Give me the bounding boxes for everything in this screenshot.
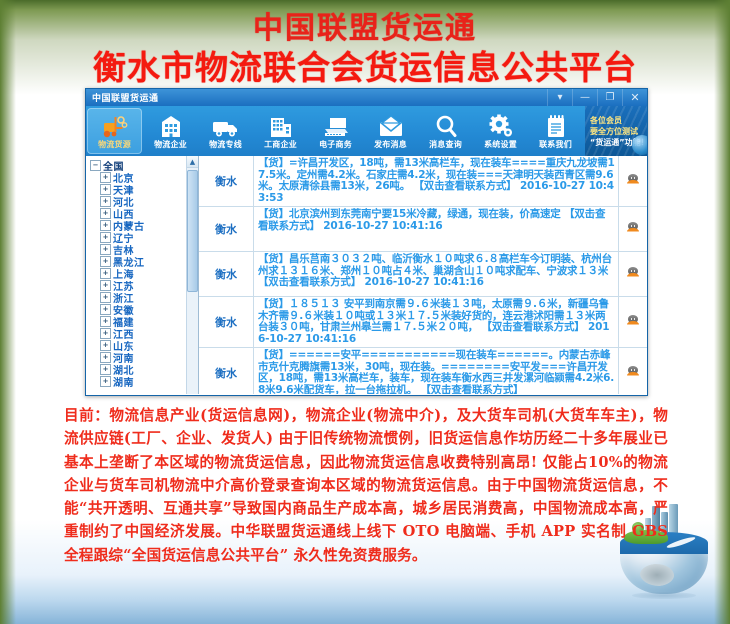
forklift-icon bbox=[101, 112, 129, 139]
scroll-up-icon[interactable]: ▲ bbox=[187, 156, 198, 168]
scroll-thumb[interactable] bbox=[187, 170, 198, 292]
notepad-icon bbox=[543, 112, 569, 139]
banner-body: 各位会员 要全方位测试 “货运通”功能！ bbox=[585, 106, 647, 156]
toolbar-label: 联系我们 bbox=[539, 140, 572, 150]
tree-node-province[interactable]: +天津 bbox=[89, 183, 198, 195]
list-rows: 衡水【货】=许昌开发区，18吨，需13米高栏车，现在装车====重庆九龙坡需17… bbox=[199, 156, 647, 394]
row-contact-cell[interactable] bbox=[619, 252, 647, 296]
close-icon[interactable]: ✕ bbox=[622, 89, 647, 106]
tree-toggle-icon[interactable]: + bbox=[100, 268, 111, 279]
envelope-icon bbox=[377, 112, 405, 139]
headings-block: 中国联盟货运通 衡水市物流联合会货运信息公共平台 bbox=[0, 12, 730, 88]
row-timestamp: 2016-10-27 10:41:16 bbox=[323, 220, 442, 232]
tree-toggle-icon[interactable]: − bbox=[90, 160, 101, 171]
toolbar-item-message-search[interactable]: 消息查询 bbox=[418, 106, 473, 156]
row-message-text: 【货】１８５１３ 安平到南京需９.６米装１３吨，太原需９.６米，新疆乌鲁木齐需９… bbox=[258, 298, 609, 333]
qq-penguin-icon[interactable] bbox=[627, 222, 639, 236]
table-row[interactable]: 衡水【货】=许昌开发区，18吨，需13米高栏车，现在装车====重庆九龙坡需17… bbox=[199, 156, 647, 207]
application-window: 中国联盟货运通 ▾ — ❐ ✕ bbox=[85, 88, 648, 396]
footer-paragraph: 目前：物流信息产业(货运信息网)，物流企业(物流中介)，及大货车司机(大货车车主… bbox=[64, 404, 668, 567]
row-city-cell: 衡水 bbox=[199, 252, 254, 296]
row-contact-cell[interactable] bbox=[619, 297, 647, 347]
tree-toggle-icon[interactable]: + bbox=[100, 244, 111, 255]
search-icon bbox=[433, 112, 459, 139]
qq-penguin-icon[interactable] bbox=[627, 267, 639, 281]
toolbar-label: 消息查询 bbox=[429, 140, 462, 150]
computer-icon bbox=[322, 112, 350, 139]
row-message-cell[interactable]: 【货】======安平===========现在装车======。内蒙古赤峰市克… bbox=[254, 348, 619, 394]
toolbar-label: 电子商务 bbox=[319, 140, 352, 150]
table-row[interactable]: 衡水【货】昌乐莒南３０３２吨、临沂衡水１０吨求６.８高栏车今订明装、杭州台州求１… bbox=[199, 252, 647, 297]
row-city-cell: 衡水 bbox=[199, 297, 254, 347]
row-message-cell[interactable]: 【货】１８５１３ 安平到南京需９.６米装１３吨，太原需９.６米，新疆乌鲁木齐需９… bbox=[254, 297, 619, 347]
tree-toggle-icon[interactable]: + bbox=[100, 304, 111, 315]
tree-node-province[interactable]: +福建 bbox=[89, 315, 198, 327]
toolbar-item-business-enterprises[interactable]: 工商企业 bbox=[253, 106, 308, 156]
slide-canvas: 中国联盟货运通 衡水市物流联合会货运信息公共平台 中国联盟货运通 ▾ — ❐ ✕ bbox=[0, 0, 730, 624]
tree-toggle-icon[interactable]: + bbox=[100, 340, 111, 351]
tree-node-province[interactable]: +河北 bbox=[89, 195, 198, 207]
row-contact-cell[interactable] bbox=[619, 156, 647, 206]
row-message-cell[interactable]: 【货】昌乐莒南３０３２吨、临沂衡水１０吨求６.８高栏车今订明装、杭州台州求１３１… bbox=[254, 252, 619, 296]
tree-node-label: 湖南 bbox=[113, 374, 134, 389]
tree-toggle-icon[interactable]: + bbox=[100, 208, 111, 219]
tree-children: +北京+天津+河北+山西+内蒙古+辽宁+吉林+黑龙江+上海+江苏+浙江+安徽+福… bbox=[89, 171, 198, 387]
tree-toggle-icon[interactable]: + bbox=[100, 184, 111, 195]
tree-node-root[interactable]: − 全国 bbox=[89, 159, 198, 171]
tree-node-province[interactable]: +内蒙古 bbox=[89, 219, 198, 231]
tree-toggle-icon[interactable]: + bbox=[100, 364, 111, 375]
tree-node-province[interactable]: +江西 bbox=[89, 327, 198, 339]
toolbar-item-system-settings[interactable]: 系统设置 bbox=[473, 106, 528, 156]
freight-message-list[interactable]: 衡水【货】=许昌开发区，18吨，需13米高栏车，现在装车====重庆九龙坡需17… bbox=[199, 156, 647, 394]
gear-icon bbox=[487, 112, 515, 139]
tree-toggle-icon[interactable]: + bbox=[100, 220, 111, 231]
tree-toggle-icon[interactable]: + bbox=[100, 292, 111, 303]
qq-penguin-icon[interactable] bbox=[627, 174, 639, 188]
toolbar-item-logistics-companies[interactable]: 物流企业 bbox=[143, 106, 198, 156]
toolbar-item-logistics-routes[interactable]: 物流专线 bbox=[198, 106, 253, 156]
page-title-secondary: 衡水市物流联合会货运信息公共平台 bbox=[0, 48, 730, 88]
maximize-icon[interactable]: ❐ bbox=[597, 89, 622, 106]
banner-globe-icon bbox=[632, 135, 647, 155]
tree-node-province[interactable]: +湖北 bbox=[89, 363, 198, 375]
toolbar-label: 物流企业 bbox=[154, 140, 187, 150]
minimize-icon[interactable]: — bbox=[572, 89, 597, 106]
window-controls: ▾ — ❐ ✕ bbox=[547, 89, 647, 106]
table-row[interactable]: 衡水【货】北京滨州到东莞南宁要15米冷藏，绿通，现在装，价高速定 【双击查看联系… bbox=[199, 207, 647, 252]
tree-node-province[interactable]: +湖南 bbox=[89, 375, 198, 387]
toolbar-label: 系统设置 bbox=[484, 140, 517, 150]
row-message-text: 【货】======安平===========现在装车======。内蒙古赤峰市克… bbox=[258, 349, 614, 394]
tree-node-province[interactable]: +辽宁 bbox=[89, 231, 198, 243]
tree-node-province[interactable]: +浙江 bbox=[89, 291, 198, 303]
table-row[interactable]: 衡水【货】１８５１３ 安平到南京需９.６米装１３吨，太原需９.６米，新疆乌鲁木齐… bbox=[199, 297, 647, 348]
tree-node-province[interactable]: +黑龙江 bbox=[89, 255, 198, 267]
toolbar-item-freight-sources[interactable]: 物流货源 bbox=[87, 108, 142, 154]
toolbar-label: 物流货源 bbox=[98, 140, 131, 150]
tree-node-province[interactable]: +北京 bbox=[89, 171, 198, 183]
tree-node-province[interactable]: +山东 bbox=[89, 339, 198, 351]
region-tree-list: − 全国 +北京+天津+河北+山西+内蒙古+辽宁+吉林+黑龙江+上海+江苏+浙江… bbox=[86, 156, 198, 387]
chevron-down-icon[interactable]: ▾ bbox=[547, 89, 572, 106]
row-city-cell: 衡水 bbox=[199, 156, 254, 206]
tree-toggle-icon[interactable]: + bbox=[100, 196, 111, 207]
window-title: 中国联盟货运通 bbox=[92, 91, 159, 104]
tree-toggle-icon[interactable]: + bbox=[100, 376, 111, 387]
qq-penguin-icon[interactable] bbox=[627, 366, 639, 380]
region-tree-panel: − 全国 +北京+天津+河北+山西+内蒙古+辽宁+吉林+黑龙江+上海+江苏+浙江… bbox=[86, 156, 199, 394]
window-titlebar: 中国联盟货运通 ▾ — ❐ ✕ bbox=[86, 89, 647, 106]
toolbar-promo-banner[interactable]: 各位会员 要全方位测试 “货运通”功能！ bbox=[585, 106, 647, 156]
tree-toggle-icon[interactable]: + bbox=[100, 280, 111, 291]
toolbar-label: 物流专线 bbox=[209, 140, 242, 150]
tree-node-province[interactable]: +河南 bbox=[89, 351, 198, 363]
tree-toggle-icon[interactable]: + bbox=[100, 256, 111, 267]
banner-line-1: 各位会员 bbox=[590, 115, 647, 126]
toolbar-item-ecommerce[interactable]: 电子商务 bbox=[308, 106, 363, 156]
tree-toggle-icon[interactable]: + bbox=[100, 316, 111, 327]
table-row[interactable]: 衡水【货】======安平===========现在装车======。内蒙古赤峰… bbox=[199, 348, 647, 394]
toolbar-label: 发布消息 bbox=[374, 140, 407, 150]
row-contact-cell[interactable] bbox=[619, 207, 647, 251]
tree-node-province[interactable]: +安徽 bbox=[89, 303, 198, 315]
page-title-primary: 中国联盟货运通 bbox=[0, 12, 730, 46]
tree-toggle-icon[interactable]: + bbox=[100, 352, 111, 363]
tree-scrollbar[interactable]: ▲ bbox=[186, 156, 198, 394]
row-city-cell: 衡水 bbox=[199, 207, 254, 251]
row-message-cell[interactable]: 【货】北京滨州到东莞南宁要15米冷藏，绿通，现在装，价高速定 【双击查看联系方式… bbox=[254, 207, 619, 251]
toolbar-item-publish-message[interactable]: 发布消息 bbox=[363, 106, 418, 156]
main-toolbar: 物流货源 物流企业 bbox=[86, 106, 647, 156]
row-city-cell: 衡水 bbox=[199, 348, 254, 394]
truck-icon bbox=[211, 112, 241, 139]
row-message-cell[interactable]: 【货】=许昌开发区，18吨，需13米高栏车，现在装车====重庆九龙坡需17.5… bbox=[254, 156, 619, 206]
tree-node-province[interactable]: +江苏 bbox=[89, 279, 198, 291]
tree-node-province[interactable]: +上海 bbox=[89, 267, 198, 279]
window-body: − 全国 +北京+天津+河北+山西+内蒙古+辽宁+吉林+黑龙江+上海+江苏+浙江… bbox=[86, 156, 647, 394]
qq-penguin-icon[interactable] bbox=[627, 315, 639, 329]
tree-toggle-icon[interactable]: + bbox=[100, 328, 111, 339]
row-contact-cell[interactable] bbox=[619, 348, 647, 394]
tree-toggle-icon[interactable]: + bbox=[100, 172, 111, 183]
building-icon bbox=[158, 112, 184, 139]
globe-reflection bbox=[632, 592, 696, 599]
skyscraper-icon bbox=[669, 504, 678, 534]
row-timestamp: 2016-10-27 10:41:16 bbox=[364, 276, 483, 288]
tree-toggle-icon[interactable]: + bbox=[100, 232, 111, 243]
toolbar-label: 工商企业 bbox=[264, 140, 297, 150]
toolbar-item-contact-us[interactable]: 联系我们 bbox=[528, 106, 583, 156]
buildings-icon bbox=[267, 112, 295, 139]
